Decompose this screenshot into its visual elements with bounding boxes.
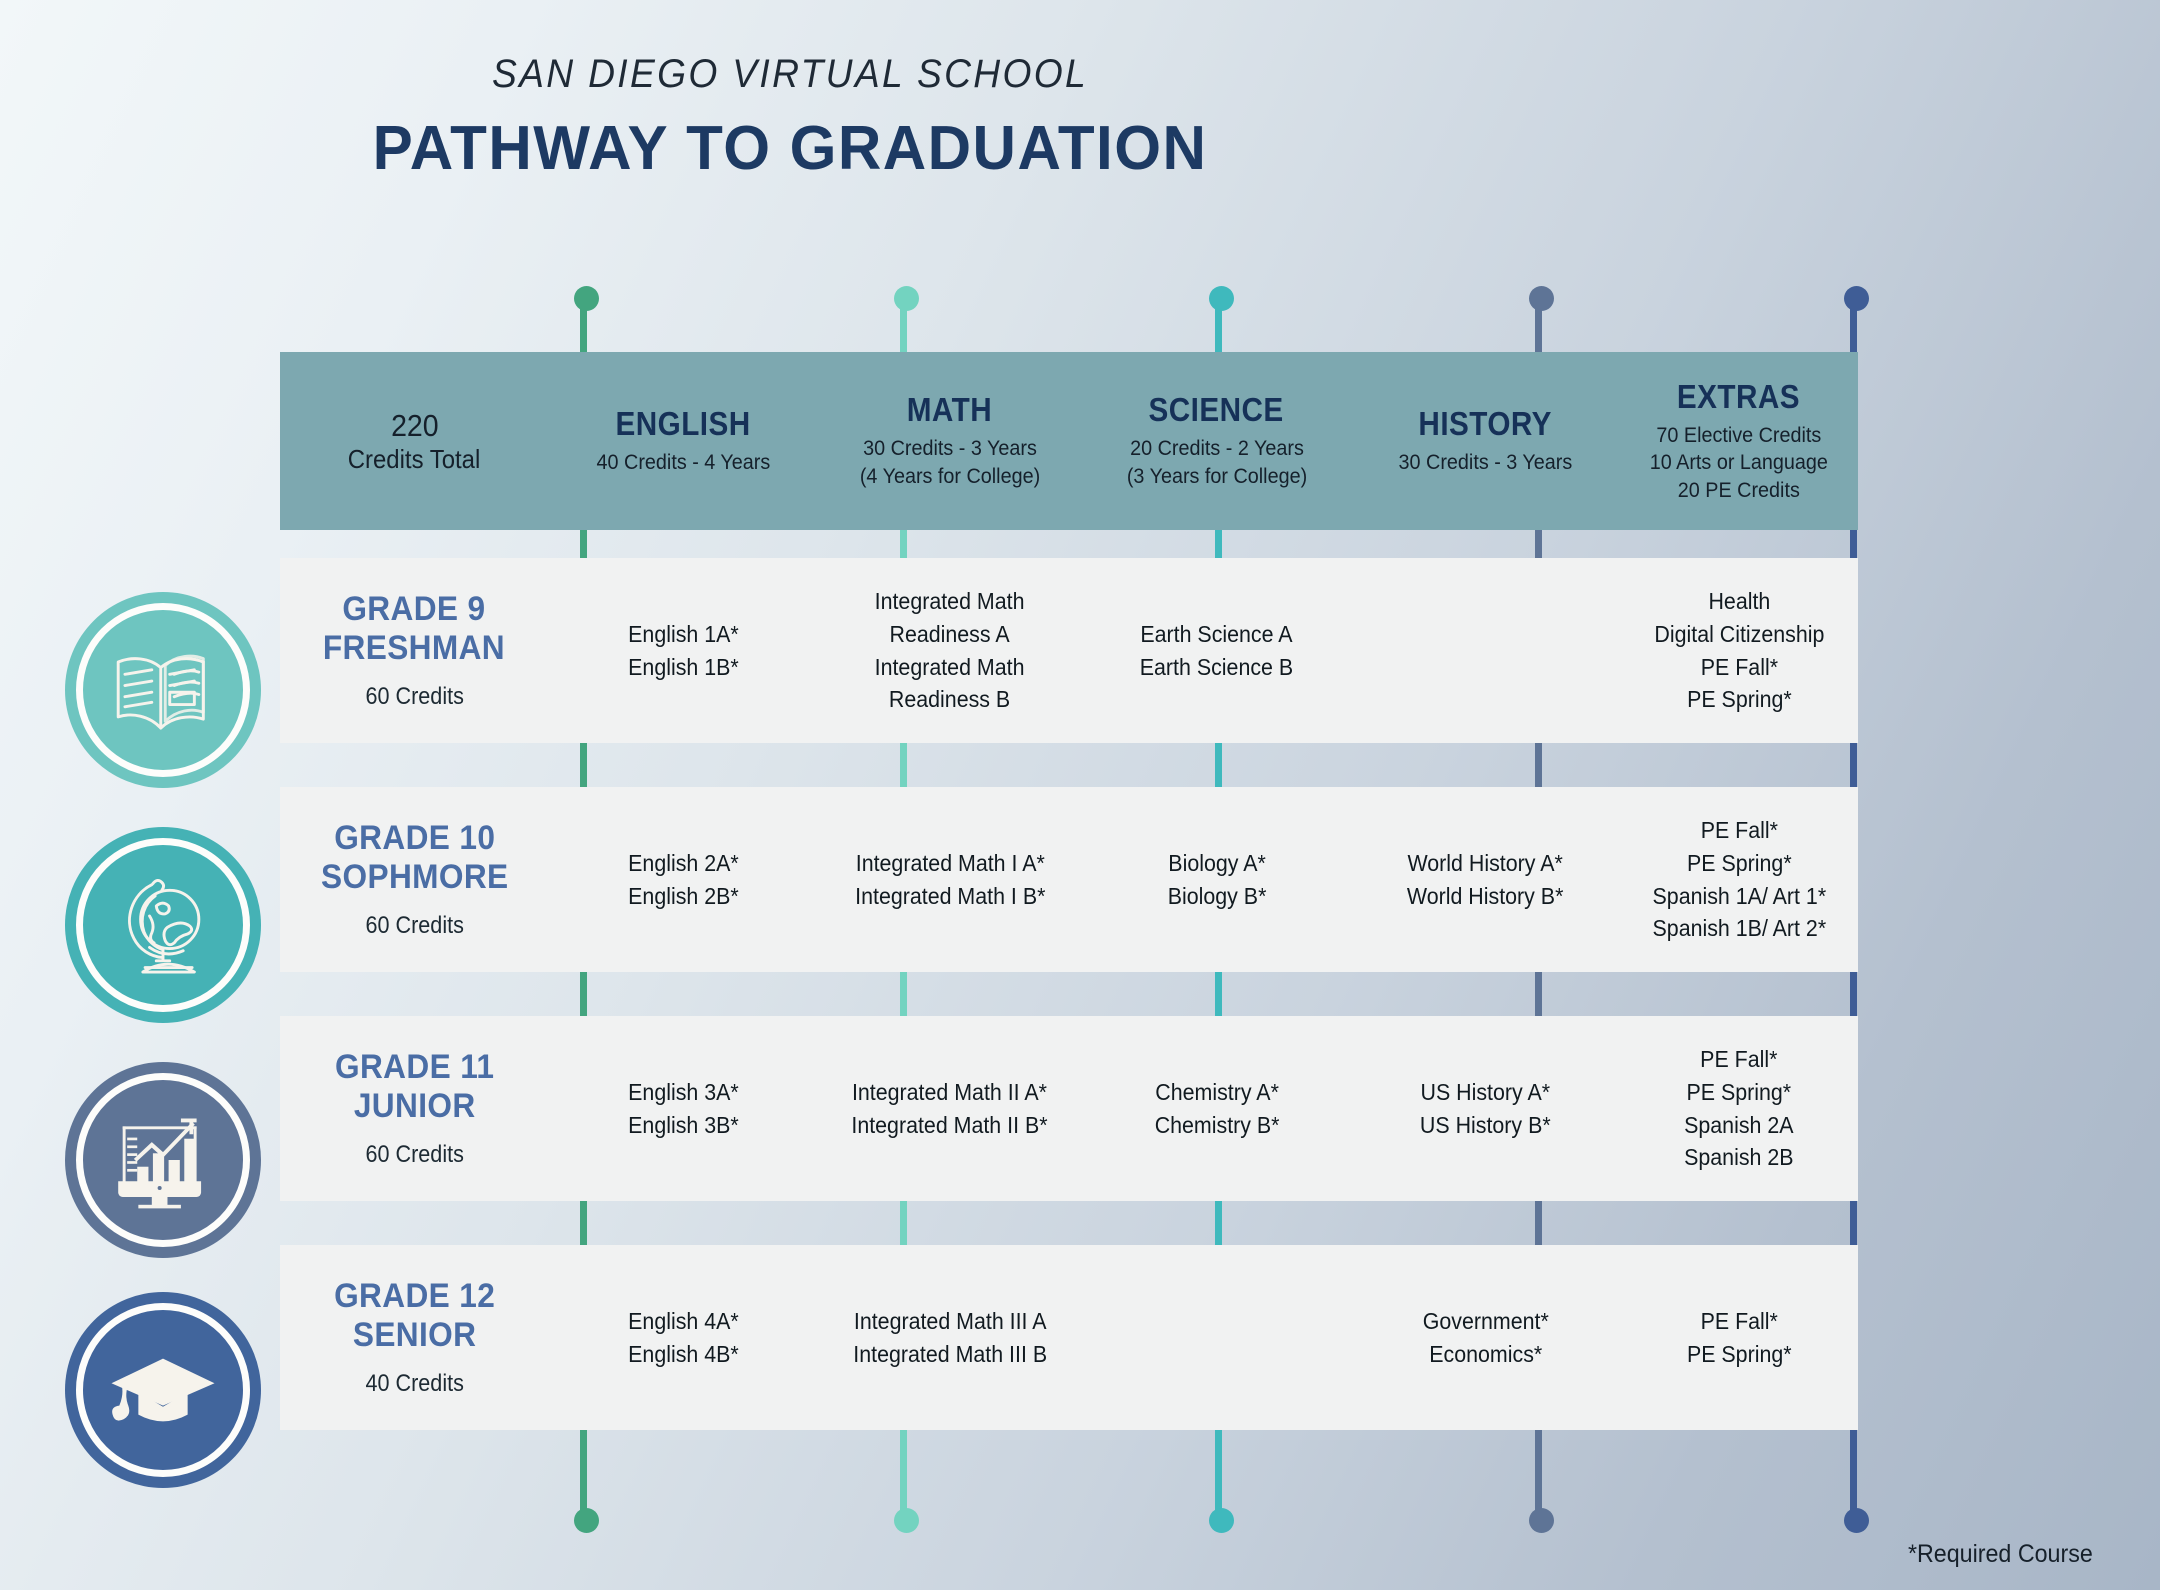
course-cell-math: Integrated Math II A*Integrated Math II …	[818, 1016, 1083, 1201]
course-list: PE Fall*PE Spring*Spanish 1A/ Art 1*Span…	[1652, 814, 1826, 945]
column-header-math: MATH 30 Credits - 3 Years(4 Years for Co…	[818, 352, 1083, 530]
total-credits-number: 220	[391, 407, 439, 444]
grade-badge-11	[65, 1062, 261, 1258]
timeline-dot-top-2	[1209, 286, 1234, 311]
column-title: ENGLISH	[616, 405, 751, 443]
column-title: MATH	[907, 391, 992, 429]
column-header-english: ENGLISH 40 Credits - 4 Years	[549, 352, 818, 530]
course-list: World History A*World History B*	[1407, 847, 1564, 912]
course-cell-science	[1082, 1245, 1351, 1430]
course-list: Government*Economics*	[1422, 1305, 1548, 1370]
timeline-dot-top-3	[1529, 286, 1554, 311]
grade-name: GRADE 11JUNIOR	[335, 1048, 494, 1124]
row-spacer	[280, 743, 1858, 787]
column-title: SCIENCE	[1149, 391, 1284, 429]
course-list: US History A*US History B*	[1420, 1076, 1551, 1141]
grade-credits: 60 Credits	[365, 912, 463, 940]
course-cell-extras: PE Fall*PE Spring*	[1620, 1245, 1858, 1430]
total-credits-label: Credits Total	[348, 444, 481, 475]
course-cell-english: English 1A*English 1B*	[549, 558, 818, 743]
course-cell-science: Chemistry A*Chemistry B*	[1082, 1016, 1351, 1201]
page-title: PATHWAY TO GRADUATION	[24, 113, 1557, 184]
course-list: Biology A*Biology B*	[1167, 847, 1266, 912]
grade-credits: 60 Credits	[365, 1141, 463, 1169]
course-cell-english: English 3A*English 3B*	[549, 1016, 818, 1201]
column-header-extras: EXTRAS 70 Elective Credits10 Arts or Lan…	[1620, 352, 1858, 530]
grade-badge-12	[65, 1292, 261, 1488]
course-cell-history: World History A*World History B*	[1351, 787, 1620, 972]
course-list: Earth Science AEarth Science B	[1140, 618, 1293, 683]
grade-label-cell: GRADE 11JUNIOR 60 Credits	[280, 1016, 549, 1201]
grade-credits: 60 Credits	[365, 683, 463, 711]
timeline-dot-bot-2	[1209, 1508, 1234, 1533]
column-header-history: HISTORY 30 Credits - 3 Years	[1351, 352, 1620, 530]
row-spacer	[280, 530, 1858, 558]
row-spacer	[280, 972, 1858, 1016]
school-name: SAN DIEGO VIRTUAL SCHOOL	[55, 52, 1524, 97]
timeline-dot-bot-3	[1529, 1508, 1554, 1533]
column-title: EXTRAS	[1677, 378, 1800, 416]
course-list: Integrated Math III AIntegrated Math III…	[853, 1305, 1047, 1370]
graduation-cap-icon	[107, 1334, 219, 1446]
table-row: GRADE 9FRESHMAN 60 Credits English 1A*En…	[280, 558, 1858, 743]
pathway-table: 220 Credits Total ENGLISH 40 Credits - 4…	[280, 352, 1858, 1430]
course-list: Integrated MathReadiness AIntegrated Mat…	[875, 585, 1025, 716]
grade-name: GRADE 10SOPHMORE	[321, 819, 508, 895]
course-list: Chemistry A*Chemistry B*	[1154, 1076, 1279, 1141]
total-credits-cell: 220 Credits Total	[280, 352, 549, 530]
column-requirement: 70 Elective Credits10 Arts or Language20…	[1650, 422, 1828, 505]
course-cell-history: Government*Economics*	[1351, 1245, 1620, 1430]
course-list: English 2A*English 2B*	[628, 847, 739, 912]
course-cell-science: Earth Science AEarth Science B	[1082, 558, 1351, 743]
globe-icon	[107, 869, 219, 981]
course-cell-math: Integrated Math III AIntegrated Math III…	[818, 1245, 1083, 1430]
course-cell-extras: HealthDigital CitizenshipPE Fall*PE Spri…	[1620, 558, 1858, 743]
course-cell-english: English 4A*English 4B*	[549, 1245, 818, 1430]
column-requirement: 30 Credits - 3 Years	[1398, 449, 1572, 477]
course-list: HealthDigital CitizenshipPE Fall*PE Spri…	[1654, 585, 1824, 716]
row-spacer	[280, 1201, 1858, 1245]
monitor-chart-icon	[107, 1104, 219, 1216]
course-list: Integrated Math I A*Integrated Math I B*	[855, 847, 1045, 912]
footnote: *Required Course	[1908, 1540, 2093, 1569]
grade-label-cell: GRADE 12SENIOR 40 Credits	[280, 1245, 549, 1430]
timeline-dot-top-0	[574, 286, 599, 311]
timeline-dot-bot-1	[894, 1508, 919, 1533]
course-cell-math: Integrated Math I A*Integrated Math I B*	[818, 787, 1083, 972]
course-list: English 1A*English 1B*	[628, 618, 739, 683]
course-cell-math: Integrated MathReadiness AIntegrated Mat…	[818, 558, 1083, 743]
open-book-icon	[107, 634, 219, 746]
course-list: English 4A*English 4B*	[628, 1305, 739, 1370]
table-row: GRADE 12SENIOR 40 Credits English 4A*Eng…	[280, 1245, 1858, 1430]
grade-name: GRADE 12SENIOR	[334, 1277, 495, 1353]
column-requirement: 20 Credits - 2 Years(3 Years for College…	[1126, 435, 1306, 490]
course-cell-extras: PE Fall*PE Spring*Spanish 1A/ Art 1*Span…	[1620, 787, 1858, 972]
course-list: Integrated Math II A*Integrated Math II …	[852, 1076, 1048, 1141]
timeline-dot-top-4	[1844, 286, 1869, 311]
course-list: PE Fall*PE Spring*	[1687, 1305, 1792, 1370]
timeline-dot-top-1	[894, 286, 919, 311]
timeline-dot-bot-4	[1844, 1508, 1869, 1533]
title-block: SAN DIEGO VIRTUAL SCHOOL PATHWAY TO GRAD…	[0, 52, 1580, 184]
table-row: GRADE 11JUNIOR 60 Credits English 3A*Eng…	[280, 1016, 1858, 1201]
grade-label-cell: GRADE 9FRESHMAN 60 Credits	[280, 558, 549, 743]
column-title: HISTORY	[1419, 405, 1553, 443]
grade-name: GRADE 9FRESHMAN	[323, 590, 505, 666]
course-list: PE Fall*PE Spring*Spanish 2ASpanish 2B	[1684, 1043, 1793, 1174]
grade-label-cell: GRADE 10SOPHMORE 60 Credits	[280, 787, 549, 972]
course-cell-history: US History A*US History B*	[1351, 1016, 1620, 1201]
column-requirement: 40 Credits - 4 Years	[596, 449, 770, 477]
course-cell-english: English 2A*English 2B*	[549, 787, 818, 972]
course-cell-science: Biology A*Biology B*	[1082, 787, 1351, 972]
column-requirement: 30 Credits - 3 Years(4 Years for College…	[860, 435, 1040, 490]
course-cell-history	[1351, 558, 1620, 743]
grade-credits: 40 Credits	[365, 1370, 463, 1398]
table-row: GRADE 10SOPHMORE 60 Credits English 2A*E…	[280, 787, 1858, 972]
grade-badge-9	[65, 592, 261, 788]
grade-badge-10	[65, 827, 261, 1023]
course-cell-extras: PE Fall*PE Spring*Spanish 2ASpanish 2B	[1620, 1016, 1858, 1201]
timeline-dot-bot-0	[574, 1508, 599, 1533]
table-header-row: 220 Credits Total ENGLISH 40 Credits - 4…	[280, 352, 1858, 530]
course-list: English 3A*English 3B*	[628, 1076, 739, 1141]
column-header-science: SCIENCE 20 Credits - 2 Years(3 Years for…	[1082, 352, 1351, 530]
